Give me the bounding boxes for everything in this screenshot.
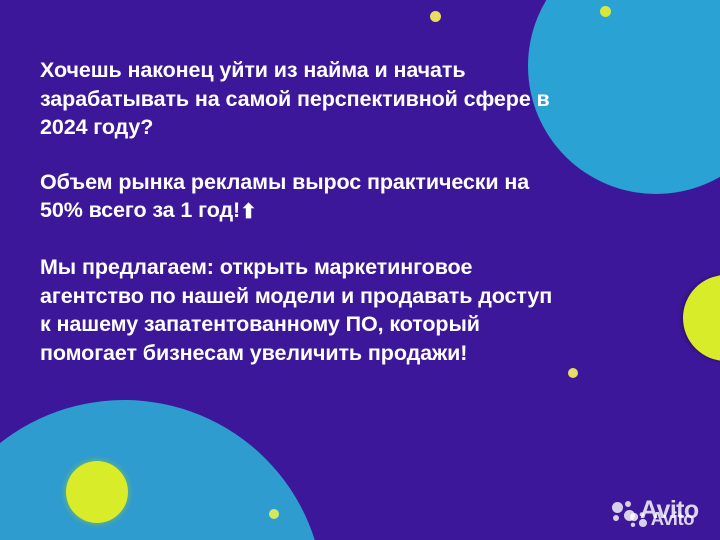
yellow-circle-bottom-left [66, 461, 128, 523]
offer-description: Мы предлагаем: открыть маркетинговое аге… [40, 253, 560, 367]
market-stat-text: Объем рынка рекламы вырос практически на… [40, 170, 529, 223]
headline-question: Хочешь наконец уйти из найма и начать за… [40, 56, 560, 142]
avito-brand-text-ghost: Avito [651, 510, 694, 529]
arrow-up-icon: ⬆ [240, 199, 257, 226]
yellow-dot-top-left-area [430, 11, 441, 22]
avito-dots-icon-ghost [630, 512, 649, 527]
poster-text-block: Хочешь наконец уйти из найма и начать за… [40, 56, 560, 367]
blue-circle-bottom-left [0, 400, 324, 540]
yellow-circle-right-edge [683, 275, 720, 361]
avito-watermark: Avito Avito [612, 496, 716, 538]
yellow-dot-bottom-blue-circle [269, 509, 279, 519]
yellow-dot-middle-right [568, 368, 578, 378]
avito-watermark-ghost: Avito [630, 510, 694, 529]
yellow-dot-on-blue-circle [600, 6, 611, 17]
advertisement-poster: Хочешь наконец уйти из найма и начать за… [0, 0, 720, 540]
market-stat-line: Объем рынка рекламы вырос практически на… [40, 168, 560, 226]
